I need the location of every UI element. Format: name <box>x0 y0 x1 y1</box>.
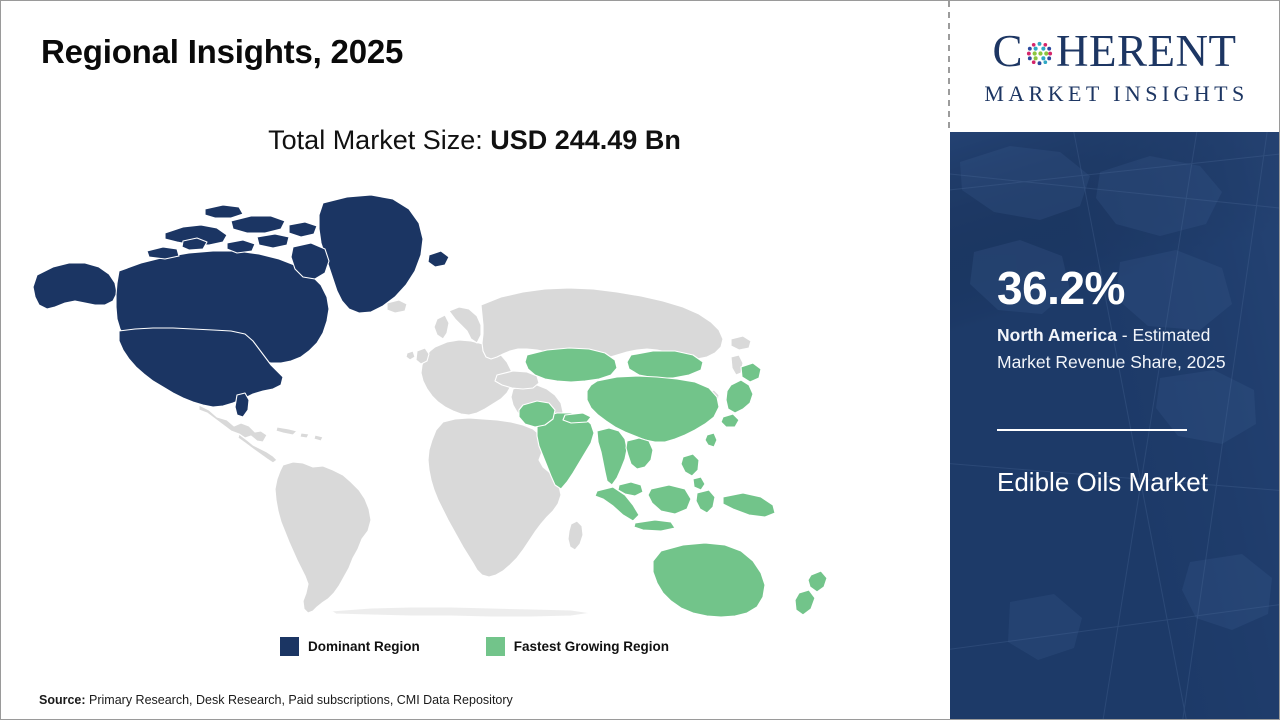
market-name: Edible Oils Market <box>997 465 1247 501</box>
page-title: Regional Insights, 2025 <box>41 33 403 71</box>
legend-item-dominant: Dominant Region <box>280 637 420 656</box>
market-size-value: USD 244.49 Bn <box>490 125 681 155</box>
logo-wordmark: C <box>969 29 1261 75</box>
map-legend: Dominant Region Fastest Growing Region <box>1 637 948 656</box>
logo-word-left: C <box>993 29 1024 74</box>
left-content-pane: Regional Insights, 2025 Total Market Siz… <box>1 1 948 719</box>
source-line: Source: Primary Research, Desk Research,… <box>39 693 513 707</box>
source-label: Source: <box>39 693 86 707</box>
source-text: Primary Research, Desk Research, Paid su… <box>86 693 513 707</box>
stat-divider <box>997 429 1187 431</box>
logo-subtitle: MARKET INSIGHTS <box>969 83 1261 105</box>
map-fastest-growing-regions <box>519 348 827 619</box>
logo-word-right: HERENT <box>1056 29 1236 74</box>
legend-item-fastest-growing: Fastest Growing Region <box>486 637 669 656</box>
logo-inner: C <box>969 29 1261 105</box>
market-size-label: Total Market Size: <box>268 125 490 155</box>
stat-panel: 36.2% North America - Estimated Market R… <box>950 132 1279 719</box>
stat-description: North America - Estimated Market Revenue… <box>997 322 1247 375</box>
legend-label-dominant: Dominant Region <box>308 639 420 654</box>
stat-percent-value: 36.2% <box>997 265 1125 311</box>
brand-logo: C <box>950 1 1279 132</box>
globe-dots-icon <box>1024 38 1055 69</box>
dominant-region-swatch <box>280 637 299 656</box>
world-map <box>31 179 911 619</box>
legend-label-fastest-growing: Fastest Growing Region <box>514 639 669 654</box>
stat-region-name: North America <box>997 325 1117 345</box>
infographic-page: Regional Insights, 2025 Total Market Siz… <box>0 0 1280 720</box>
fastest-growing-region-swatch <box>486 637 505 656</box>
stat-panel-content: 36.2% North America - Estimated Market R… <box>950 132 1279 719</box>
total-market-size: Total Market Size: USD 244.49 Bn <box>1 125 948 156</box>
